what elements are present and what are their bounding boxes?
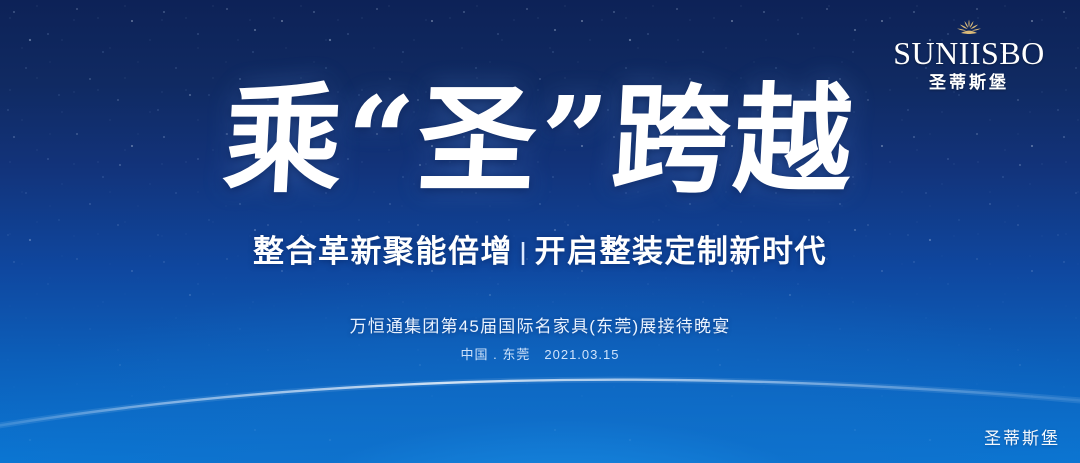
headline: 乘“圣”跨越	[0, 74, 1080, 206]
event-meta: 中国 . 东莞2021.03.15	[0, 344, 1080, 363]
event-date: 2021.03.15	[544, 347, 619, 362]
subtitle-separator: |	[519, 237, 529, 267]
brand-watermark: 圣蒂斯堡	[984, 424, 1060, 449]
sunburst-flower-emblem	[954, 18, 984, 36]
event-location: 中国 . 东莞	[461, 347, 531, 362]
brand-wordmark: SUNIISBO	[884, 37, 1054, 69]
event-banner: SUNIISBO 圣蒂斯堡 乘“圣”跨越 整合革新聚能倍增|开启整装定制新时代 …	[0, 0, 1080, 463]
event-title: 万恒通集团第45届国际名家具(东莞)展接待晚宴	[0, 312, 1080, 337]
subtitle-left: 整合革新聚能倍增	[253, 234, 513, 269]
subtitle: 整合革新聚能倍增|开启整装定制新时代	[0, 226, 1080, 271]
subtitle-right: 开启整装定制新时代	[535, 234, 828, 269]
